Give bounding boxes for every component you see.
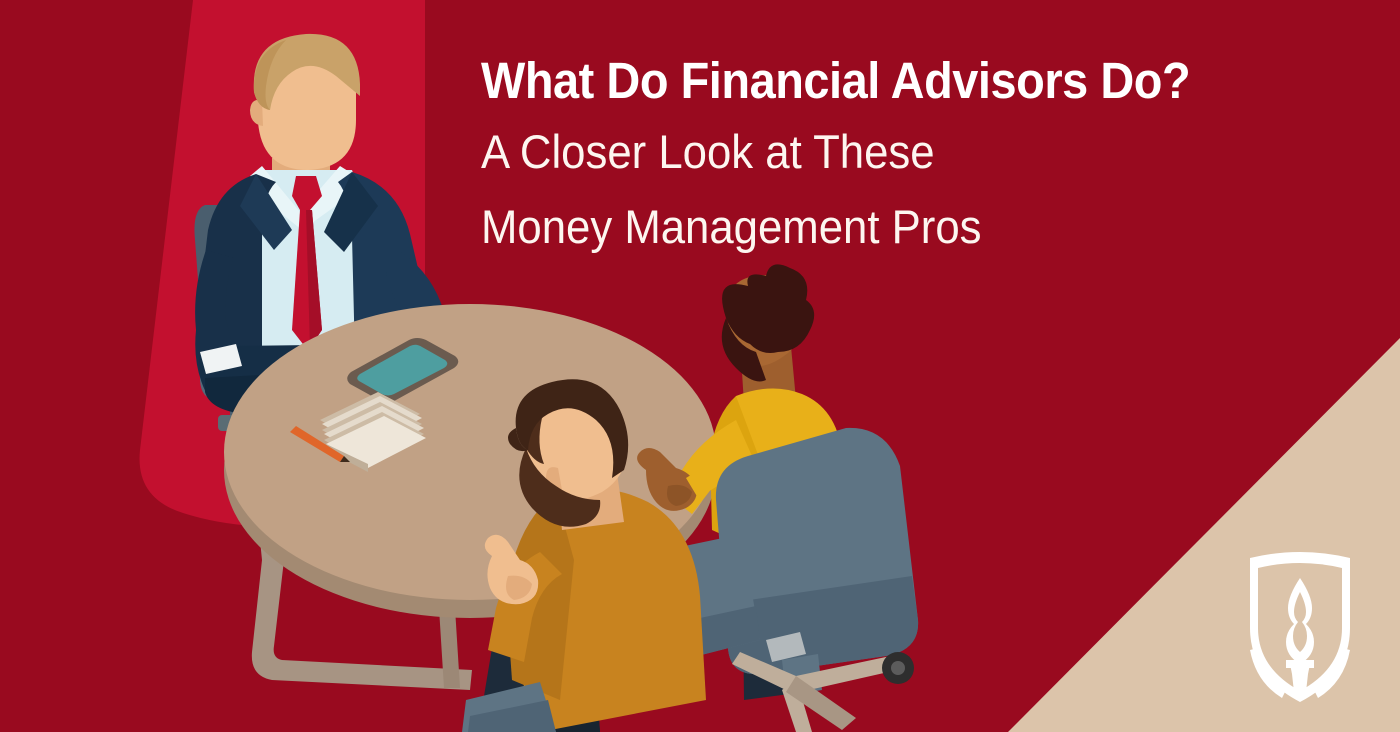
hero-illustration bbox=[0, 0, 1400, 732]
article-hero-banner: What Do Financial Advisors Do? A Closer … bbox=[0, 0, 1400, 732]
rasmussen-shield-torch-logo bbox=[1250, 552, 1350, 702]
